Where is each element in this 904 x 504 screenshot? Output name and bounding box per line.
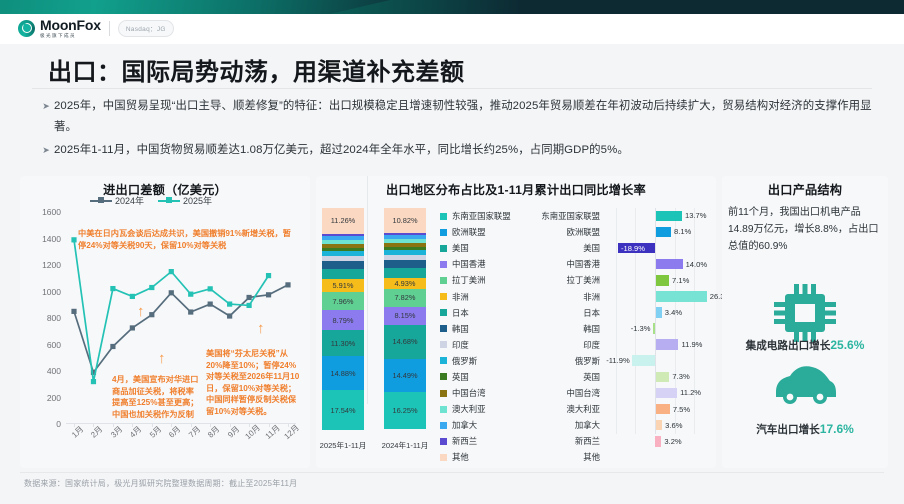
legend-swatch — [90, 200, 112, 202]
category-label: 印度 — [538, 337, 600, 353]
category-label: 东南亚国家联盟 — [538, 208, 600, 224]
legend-swatch — [440, 213, 447, 220]
x-tick-mark — [171, 424, 172, 427]
legend-swatch — [440, 245, 447, 252]
brand-subtitle: 极光旗下成员 — [40, 34, 101, 39]
data-point — [169, 290, 174, 295]
category-label: 欧洲联盟 — [538, 224, 600, 240]
bar-row: 3.4% — [606, 305, 714, 321]
data-point — [149, 312, 154, 317]
category-label: 其他 — [538, 449, 600, 465]
legend-item: 英国 — [440, 369, 540, 385]
legend-label: 非洲 — [452, 291, 469, 303]
legend-item: 其他 — [440, 449, 540, 465]
stack-segment — [322, 269, 364, 279]
legend-swatch — [440, 454, 447, 461]
stack-segment: 14.88% — [322, 356, 364, 390]
panel-title: 出口产品结构 — [722, 180, 888, 198]
x-axis-tick: 6月 — [167, 424, 184, 441]
legend-label: 中国香港 — [452, 258, 486, 270]
legend-item: 拉丁美洲 — [440, 272, 540, 288]
legend-swatch — [440, 438, 447, 445]
x-tick-mark — [269, 424, 270, 427]
data-point — [208, 286, 213, 291]
legend-label: 澳大利亚 — [452, 403, 486, 415]
page-title: 出口：国际局势动荡，用渠道补充差额 — [48, 52, 465, 87]
annotation-april: 4月，美国宣布对华进口商品加征关税，将税率提高至125%甚至更高；中国也加关税作… — [112, 374, 200, 420]
legend-swatch — [440, 406, 447, 413]
x-axis-tick: 1月 — [69, 424, 86, 441]
column-label: 2025年1-11月 — [317, 440, 369, 451]
stack-segment: 8.79% — [322, 310, 364, 330]
stack-segment: 14.68% — [384, 325, 426, 358]
legend-item: 印度 — [440, 337, 540, 353]
bar-row: -18.9% — [606, 240, 714, 256]
legend-item: 澳大利亚 — [440, 401, 540, 417]
nasdaq-badge: Nasdaq：JG — [118, 20, 174, 37]
bar-value-label: 7.3% — [672, 371, 689, 382]
legend-swatch — [440, 325, 447, 332]
bar-row: 13.7% — [606, 208, 714, 224]
x-axis-tick: 8月 — [206, 424, 223, 441]
legend-swatch — [440, 261, 447, 268]
trade-balance-chart: 进出口差额（亿美元） 2024年2025年 020040060080010001… — [20, 176, 310, 468]
stat-label: 汽车出口增长 — [756, 424, 820, 436]
bullet-text: 2025年，中国贸易呈现“出口主导、顺差修复”的特征：出口规模稳定且增速韧性较强… — [54, 96, 883, 138]
legend-label: 日本 — [452, 307, 469, 319]
data-point — [169, 269, 174, 274]
growth-bar — [655, 436, 661, 447]
bar-value-label: 14.0% — [686, 259, 708, 270]
x-tick-mark — [230, 424, 231, 427]
data-point — [227, 313, 232, 318]
x-tick-mark — [288, 424, 289, 427]
list-item: ➤ 2025年1-11月，中国货物贸易顺差达1.08万亿美元，超过2024年全年… — [38, 140, 883, 161]
stack-segment: 11.30% — [322, 330, 364, 356]
legend-swatch — [440, 390, 447, 397]
stack-segment: 10.82% — [384, 208, 426, 233]
chip-icon-svg — [772, 284, 838, 342]
annotation-fentanyl: 美国将“芬太尼关税”从20%降至10%；暂停24%对等关税至2026年11月10… — [206, 348, 304, 417]
bar-value-label: 13.7% — [685, 210, 707, 221]
growth-bar-chart: 13.7%8.1%-18.9%14.0%7.1%26.3%3.4%-1.3%11… — [606, 208, 714, 436]
data-point — [71, 309, 76, 314]
legend-item: 欧洲联盟 — [440, 224, 540, 240]
data-point — [246, 295, 251, 300]
data-point — [71, 237, 76, 242]
bar-value-label: 3.2% — [664, 436, 681, 447]
bar-row: 3.6% — [606, 417, 714, 433]
x-tick-mark — [210, 424, 211, 427]
stacked-column: 10.82%4.93%7.82%8.15%14.68%14.49%16.25%2… — [384, 208, 426, 436]
growth-bar — [655, 339, 678, 350]
brand-logo: MoonFox 极光旗下成员 Nasdaq：JG — [18, 18, 174, 39]
legend-item: 中国香港 — [440, 256, 540, 272]
legend-label: 美国 — [452, 242, 469, 254]
data-point — [188, 309, 193, 314]
brand-text: MoonFox 极光旗下成员 — [40, 18, 101, 39]
x-axis-tick: 2月 — [89, 424, 106, 441]
data-point — [130, 294, 135, 299]
chart-title: 出口地区分布占比及1-11月累计出口同比增长率 — [308, 180, 724, 198]
bar-row: -1.3% — [606, 321, 714, 337]
legend-swatch — [440, 357, 447, 364]
x-axis-tick: 3月 — [108, 424, 125, 441]
legend-swatch — [440, 422, 447, 429]
legend-swatch — [440, 373, 447, 380]
data-point — [110, 344, 115, 349]
x-tick-mark — [152, 424, 153, 427]
growth-bar — [655, 420, 662, 431]
column-label: 2024年1-11月 — [379, 440, 431, 451]
stat-chip: 集成电路出口增长25.6% — [722, 338, 888, 353]
brand-name: MoonFox — [40, 18, 101, 32]
legend-swatch — [440, 293, 447, 300]
legend-swatch — [440, 341, 447, 348]
stack-segment: 7.82% — [384, 289, 426, 307]
stack-segment — [384, 260, 426, 268]
x-tick-mark — [132, 424, 133, 427]
x-axis-tick: 4月 — [128, 424, 145, 441]
y-axis-tick: 200 — [47, 393, 61, 403]
column-separator — [367, 176, 368, 404]
legend-item: 日本 — [440, 305, 540, 321]
bar-row: 14.0% — [606, 256, 714, 272]
legend-label: 欧洲联盟 — [452, 226, 486, 238]
data-point — [246, 303, 251, 308]
legend-label: 韩国 — [452, 323, 469, 335]
region-legend: 东南亚国家联盟欧洲联盟美国中国香港拉丁美洲非洲日本韩国印度俄罗斯英国中国台湾澳大… — [440, 208, 540, 466]
stat-label: 集成电路出口增长 — [746, 340, 831, 352]
bar-value-label: 3.6% — [665, 420, 682, 431]
x-tick-mark — [93, 424, 94, 427]
category-label: 中国台湾 — [538, 385, 600, 401]
growth-bar — [655, 275, 669, 286]
data-point — [130, 325, 135, 330]
data-point — [110, 286, 115, 291]
legend-item: 2025年 — [158, 194, 212, 207]
growth-bar — [655, 227, 671, 238]
legend-item: 东南亚国家联盟 — [440, 208, 540, 224]
x-axis-tick: 7月 — [186, 424, 203, 441]
chart-legend: 2024年2025年 — [90, 194, 212, 207]
zero-line — [655, 208, 656, 434]
legend-label: 俄罗斯 — [452, 355, 477, 367]
category-label: 新西兰 — [538, 433, 600, 449]
legend-item: 美国 — [440, 240, 540, 256]
y-axis-tick: 1000 — [42, 287, 61, 297]
growth-bar — [655, 291, 707, 302]
data-point — [266, 292, 271, 297]
stat-car: 汽车出口增长17.6% — [722, 422, 888, 437]
x-axis-tick: 10月 — [243, 422, 263, 441]
arrow-up-icon: ↑ — [257, 321, 265, 336]
bar-row: -11.9% — [606, 353, 714, 369]
export-region-chart: 出口地区分布占比及1-11月累计出口同比增长率 11.26%5.91%7.96%… — [316, 176, 716, 468]
stack-segment: 16.25% — [384, 392, 426, 429]
footer-source: 数据来源：国家统计局，极光月狐研究院整理数据周期：截止至2025年11月 — [24, 478, 297, 489]
data-point — [149, 285, 154, 290]
data-point — [285, 282, 290, 287]
legend-item: 韩国 — [440, 321, 540, 337]
car-icon-svg — [772, 362, 838, 406]
legend-label: 2025年 — [183, 194, 212, 207]
x-axis-tick: 9月 — [225, 424, 242, 441]
growth-bar — [655, 259, 682, 270]
bar-value-label: 8.1% — [674, 226, 691, 237]
x-tick-mark — [74, 424, 75, 427]
x-tick-mark — [191, 424, 192, 427]
data-point — [188, 292, 193, 297]
stat-value: 17.6% — [820, 422, 854, 436]
bar-row: 7.1% — [606, 272, 714, 288]
y-axis-tick: 400 — [47, 366, 61, 376]
arrow-up-icon: ↑ — [158, 351, 166, 366]
bullet-list: ➤ 2025年，中国贸易呈现“出口主导、顺差修复”的特征：出口规模稳定且增速韧性… — [38, 96, 883, 163]
bar-value-label: 11.9% — [681, 339, 702, 350]
stat-value: 25.6% — [830, 338, 864, 352]
legend-label: 中国台湾 — [452, 387, 486, 399]
slide-root: MoonFox 极光旗下成员 Nasdaq：JG 出口：国际局势动荡，用渠道补充… — [0, 0, 904, 504]
legend-swatch — [158, 200, 180, 202]
bullet-arrow-icon: ➤ — [38, 96, 54, 117]
bar-value-label: 11.2% — [680, 387, 701, 398]
category-label: 中国香港 — [538, 256, 600, 272]
stacked-columns: 11.26%5.91%7.96%8.79%11.30%14.88%17.54%2… — [322, 208, 426, 436]
title-divider — [32, 88, 872, 89]
stack-segment: 17.54% — [322, 390, 364, 430]
category-label: 拉丁美洲 — [538, 272, 600, 288]
growth-bar — [655, 372, 669, 383]
moonfox-logo-icon — [18, 20, 35, 37]
growth-bar — [655, 307, 662, 318]
legend-label: 印度 — [452, 339, 469, 351]
x-axis-tick: 5月 — [147, 424, 164, 441]
annotation-geneva: 中美在日内瓦会谈后达成共识，美国撤销91%新增关税，暂停24%对等关税90天，保… — [78, 228, 292, 251]
bar-value-label: -11.9% — [606, 355, 630, 366]
category-label: 俄罗斯 — [538, 353, 600, 369]
bar-row: 7.3% — [606, 369, 714, 385]
x-tick-mark — [113, 424, 114, 427]
arrow-up-icon: ↑ — [137, 304, 145, 319]
bar-row: 26.3% — [606, 289, 714, 305]
data-point — [227, 301, 232, 306]
panel-description: 前11个月，我国出口机电产品14.89万亿元，增长8.8%，占出口总值的60.9… — [728, 204, 884, 255]
bar-row: 11.9% — [606, 337, 714, 353]
category-label: 日本 — [538, 305, 600, 321]
bar-row: 7.5% — [606, 401, 714, 417]
list-item: ➤ 2025年，中国贸易呈现“出口主导、顺差修复”的特征：出口规模稳定且增速韧性… — [38, 96, 883, 138]
bullet-text: 2025年1-11月，中国货物贸易顺差达1.08万亿美元，超过2024年全年水平… — [54, 140, 883, 161]
y-axis-tick: 600 — [47, 340, 61, 350]
top-ribbon — [0, 0, 904, 14]
bar-value-label: 3.4% — [665, 307, 682, 318]
stack-segment: 11.26% — [322, 208, 364, 234]
data-point — [91, 379, 96, 384]
growth-category-labels: 东南亚国家联盟欧洲联盟美国中国香港拉丁美洲非洲日本韩国印度俄罗斯英国中国台湾澳大… — [538, 208, 600, 466]
car-icon — [772, 362, 838, 411]
legend-item: 俄罗斯 — [440, 353, 540, 369]
bar-value-label: 7.1% — [672, 275, 689, 286]
growth-bar — [655, 211, 682, 222]
legend-label: 2024年 — [115, 194, 144, 207]
bar-row: 3.2% — [606, 433, 714, 449]
stack-segment — [384, 268, 426, 278]
stack-segment — [322, 261, 364, 269]
legend-item: 非洲 — [440, 288, 540, 304]
data-point — [266, 273, 271, 278]
data-point — [208, 301, 213, 306]
legend-swatch — [440, 229, 447, 236]
legend-swatch — [440, 309, 447, 316]
bar-value-label: -1.3% — [631, 323, 651, 334]
stack-segment: 7.96% — [322, 292, 364, 310]
stack-segment: 14.49% — [384, 359, 426, 392]
y-axis-tick: 1600 — [42, 207, 61, 217]
stack-segment: 5.91% — [322, 279, 364, 292]
legend-label: 拉丁美洲 — [452, 274, 486, 286]
x-axis — [66, 423, 296, 424]
legend-item: 2024年 — [90, 194, 144, 207]
y-axis-tick: 1200 — [42, 260, 61, 270]
bar-row: 8.1% — [606, 224, 714, 240]
legend-item: 新西兰 — [440, 433, 540, 449]
stack-segment: 8.15% — [384, 307, 426, 326]
category-label: 韩国 — [538, 321, 600, 337]
growth-bar — [655, 388, 677, 399]
category-label: 非洲 — [538, 288, 600, 304]
category-label: 美国 — [538, 240, 600, 256]
legend-label: 英国 — [452, 371, 469, 383]
brand-divider — [109, 21, 110, 36]
growth-bar — [655, 404, 670, 415]
legend-label: 其他 — [452, 451, 469, 463]
x-axis-tick: 11月 — [262, 423, 281, 442]
legend-swatch — [440, 277, 447, 284]
y-axis-tick: 0 — [56, 419, 61, 429]
bar-value-label: 7.5% — [673, 404, 690, 415]
footer-divider — [20, 472, 884, 473]
bar-row: 11.2% — [606, 385, 714, 401]
stacked-column: 11.26%5.91%7.96%8.79%11.30%14.88%17.54%2… — [322, 208, 364, 436]
bar-value-label: -18.9% — [621, 243, 645, 254]
x-axis-tick: 12月 — [282, 422, 302, 441]
legend-label: 东南亚国家联盟 — [452, 210, 511, 222]
legend-item: 加拿大 — [440, 417, 540, 433]
growth-bar — [632, 355, 655, 366]
stack-segment: 4.93% — [384, 278, 426, 289]
y-axis-tick: 1400 — [42, 234, 61, 244]
bullet-arrow-icon: ➤ — [38, 140, 54, 161]
y-axis-tick: 800 — [47, 313, 61, 323]
legend-item: 中国台湾 — [440, 385, 540, 401]
legend-label: 加拿大 — [452, 419, 477, 431]
legend-label: 新西兰 — [452, 435, 477, 447]
page-header: MoonFox 极光旗下成员 Nasdaq：JG — [0, 14, 904, 44]
bar-row — [606, 450, 714, 466]
x-tick-mark — [249, 424, 250, 427]
export-product-panel: 出口产品结构 前11个月，我国出口机电产品14.89万亿元，增长8.8%，占出口… — [722, 176, 888, 468]
category-label: 加拿大 — [538, 417, 600, 433]
category-label: 澳大利亚 — [538, 401, 600, 417]
category-label: 英国 — [538, 369, 600, 385]
